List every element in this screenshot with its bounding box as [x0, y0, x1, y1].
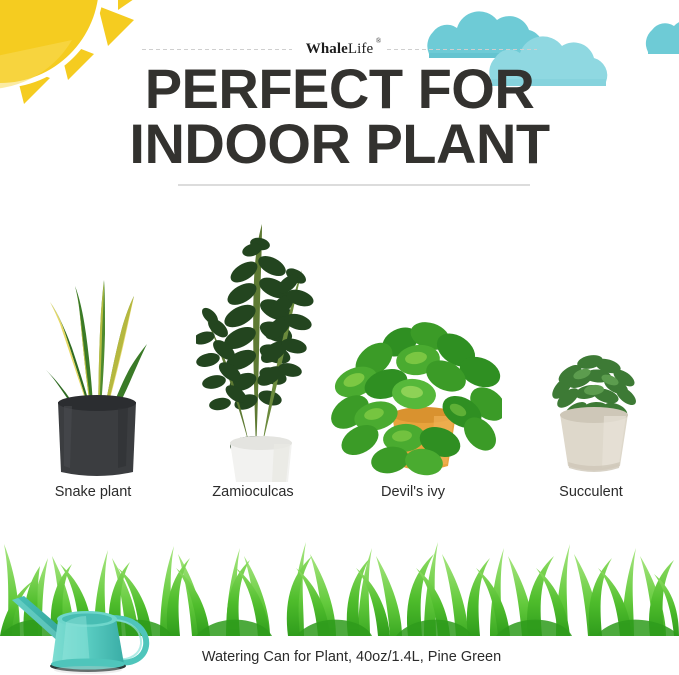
plant-image-snake-plant	[34, 250, 160, 480]
brand-name-light: Life	[348, 41, 373, 57]
plant-label-succulent: Succulent	[518, 484, 664, 500]
plant-gallery	[0, 196, 679, 486]
brand-name-bold: Whale	[306, 41, 348, 57]
page-title: PERFECT FOR INDOOR PLANT	[0, 62, 679, 172]
brand-logo: WhaleLife®	[306, 41, 374, 58]
plant-label-devils-ivy: Devil's ivy	[340, 484, 486, 500]
registered-mark-icon: ®	[376, 37, 381, 45]
plant-labels: Snake plant Zamioculcas Devil's ivy Succ…	[0, 484, 679, 504]
plant-image-zamioculcas	[196, 210, 316, 482]
promo-banner: WhaleLife® PERFECT FOR INDOOR PLANT	[0, 0, 679, 675]
plant-image-succulent	[546, 330, 642, 476]
title-divider	[178, 184, 530, 186]
plant-image-devils-ivy	[330, 316, 502, 476]
brand-dash-right	[387, 49, 537, 50]
product-caption: Watering Can for Plant, 40oz/1.4L, Pine …	[0, 649, 679, 665]
brand-dash-left	[142, 49, 292, 50]
page-title-line1: PERFECT FOR	[145, 57, 535, 120]
plant-label-zamioculcas: Zamioculcas	[180, 484, 326, 500]
page-title-line2: INDOOR PLANT	[0, 117, 679, 172]
plant-label-snake-plant: Snake plant	[18, 484, 168, 500]
